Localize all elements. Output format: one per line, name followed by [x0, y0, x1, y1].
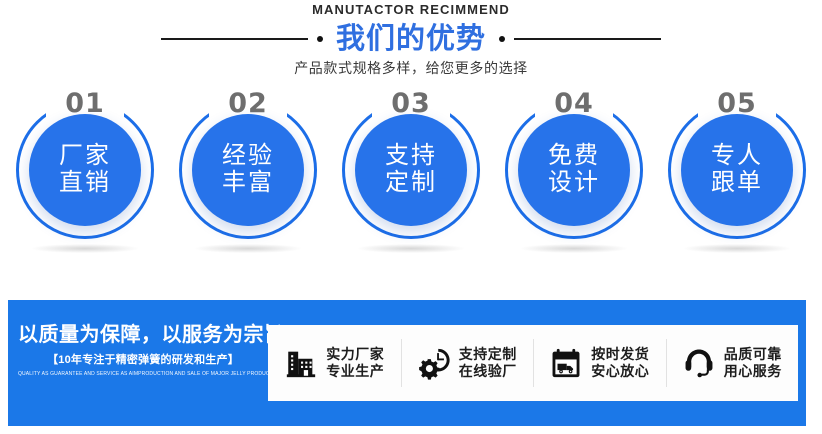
advantage-disc: 支持 定制: [355, 114, 467, 226]
feature-item[interactable]: 实力厂家 专业生产: [268, 325, 401, 401]
advantage-number: 05: [662, 88, 812, 119]
bar-slogan: 以质量为保障，以服务为宗旨: [18, 324, 268, 346]
bar-english-tagline: QUALITY AS GUARANTEE AND SERVICE AS AIMP…: [18, 371, 268, 377]
advantage-list: 厂家 直销 01 经验 丰富 02 支持 定制 03: [0, 88, 822, 273]
feature-label: 品质可靠 用心服务: [724, 346, 782, 380]
feature-item[interactable]: 品质可靠 用心服务: [666, 325, 799, 401]
advantage-label: 免费 设计: [548, 143, 600, 197]
advantage-item[interactable]: 支持 定制 03: [336, 88, 486, 273]
calendar-truck-icon: [549, 346, 583, 380]
feature-item[interactable]: 支持定制 在线验厂: [401, 325, 534, 401]
advantage-disc: 专人 跟单: [681, 114, 793, 226]
advantage-shadow: [358, 244, 464, 253]
rule-left: [161, 38, 308, 40]
advantage-label: 支持 定制: [385, 143, 437, 197]
advantage-shadow: [195, 244, 301, 253]
advantage-shadow: [521, 244, 627, 253]
advantage-item[interactable]: 专人 跟单 05: [662, 88, 812, 273]
gear-clock-icon: [417, 346, 451, 380]
advantage-item[interactable]: 免费 设计 04: [499, 88, 649, 273]
advantage-number: 01: [10, 88, 160, 119]
bar-sub-slogan: 【10年专注于精密弹簧的研发和生产】: [18, 351, 268, 367]
feature-label: 按时发货 安心放心: [591, 346, 649, 380]
rule-dot-right-icon: [499, 36, 505, 42]
advantage-disc: 厂家 直销: [29, 114, 141, 226]
advantage-number: 04: [499, 88, 649, 119]
feature-item[interactable]: 按时发货 安心放心: [533, 325, 666, 401]
rule-dot-left-icon: [317, 36, 323, 42]
advantage-disc: 免费 设计: [518, 114, 630, 226]
advantage-item[interactable]: 经验 丰富 02: [173, 88, 323, 273]
advantage-shadow: [32, 244, 138, 253]
advantage-shadow: [684, 244, 790, 253]
feature-label: 支持定制 在线验厂: [459, 346, 517, 380]
advantage-label: 经验 丰富: [222, 143, 274, 197]
header-subtitle: 产品款式规格多样，给您更多的选择: [0, 58, 822, 78]
feature-panel: 实力厂家 专业生产 支持定制 在线验厂: [268, 325, 798, 401]
promo-banner: MANUTACTOR RECIMMEND 我们的优势 产品款式规格多样，给您更多…: [0, 0, 822, 434]
bottom-bar: 以质量为保障，以服务为宗旨 【10年专注于精密弹簧的研发和生产】 QUALITY…: [8, 300, 806, 426]
headset-icon: [682, 346, 716, 380]
rule-right: [514, 38, 661, 40]
advantage-item[interactable]: 厂家 直销 01: [10, 88, 160, 273]
advantage-number: 03: [336, 88, 486, 119]
building-icon: [284, 346, 318, 380]
header-title-row: 我们的优势: [0, 23, 822, 55]
feature-label: 实力厂家 专业生产: [326, 346, 384, 380]
page-title: 我们的优势: [332, 25, 490, 54]
advantage-label: 厂家 直销: [59, 143, 111, 197]
bar-slogan-block: 以质量为保障，以服务为宗旨 【10年专注于精密弹簧的研发和生产】 QUALITY…: [18, 324, 268, 377]
advantage-disc: 经验 丰富: [192, 114, 304, 226]
header-eyebrow: MANUTACTOR RECIMMEND: [0, 2, 822, 17]
advantage-label: 专人 跟单: [711, 143, 763, 197]
advantage-number: 02: [173, 88, 323, 119]
header-section: MANUTACTOR RECIMMEND 我们的优势 产品款式规格多样，给您更多…: [0, 0, 822, 88]
